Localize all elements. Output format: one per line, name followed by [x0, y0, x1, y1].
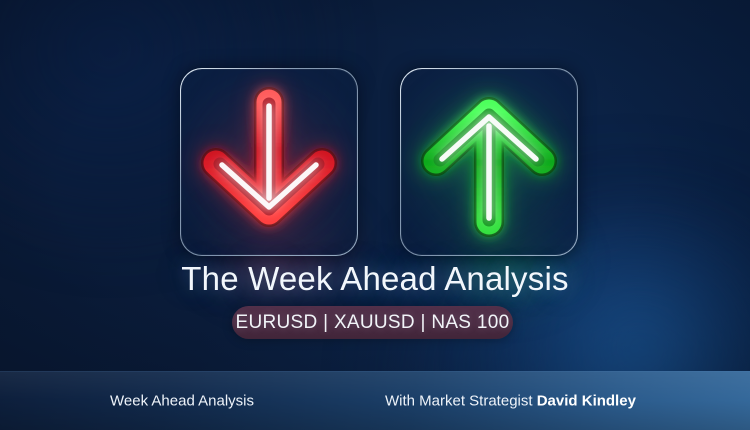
footer-series-label: Week Ahead Analysis — [110, 393, 254, 410]
footer-bar: Week Ahead Analysis With Market Strategi… — [0, 371, 750, 430]
tile-arrow-down — [180, 68, 358, 256]
arrow-up-icon — [416, 86, 562, 238]
footer-presenter: With Market Strategist David Kindley — [385, 393, 636, 410]
instruments-badge: EURUSD | XAUUSD | NAS 100 — [232, 306, 513, 339]
promo-banner: The Week Ahead Analysis EURUSD | XAUUSD … — [0, 0, 750, 430]
tile-arrow-up — [400, 68, 578, 256]
footer-presenter-prefix: With Market Strategist — [385, 393, 537, 410]
background-vignette — [0, 0, 750, 430]
arrow-down-icon — [196, 86, 342, 238]
page-title: The Week Ahead Analysis — [0, 260, 750, 298]
instruments-badge-label: EURUSD | XAUUSD | NAS 100 — [236, 312, 510, 334]
footer-presenter-name: David Kindley — [537, 393, 636, 410]
